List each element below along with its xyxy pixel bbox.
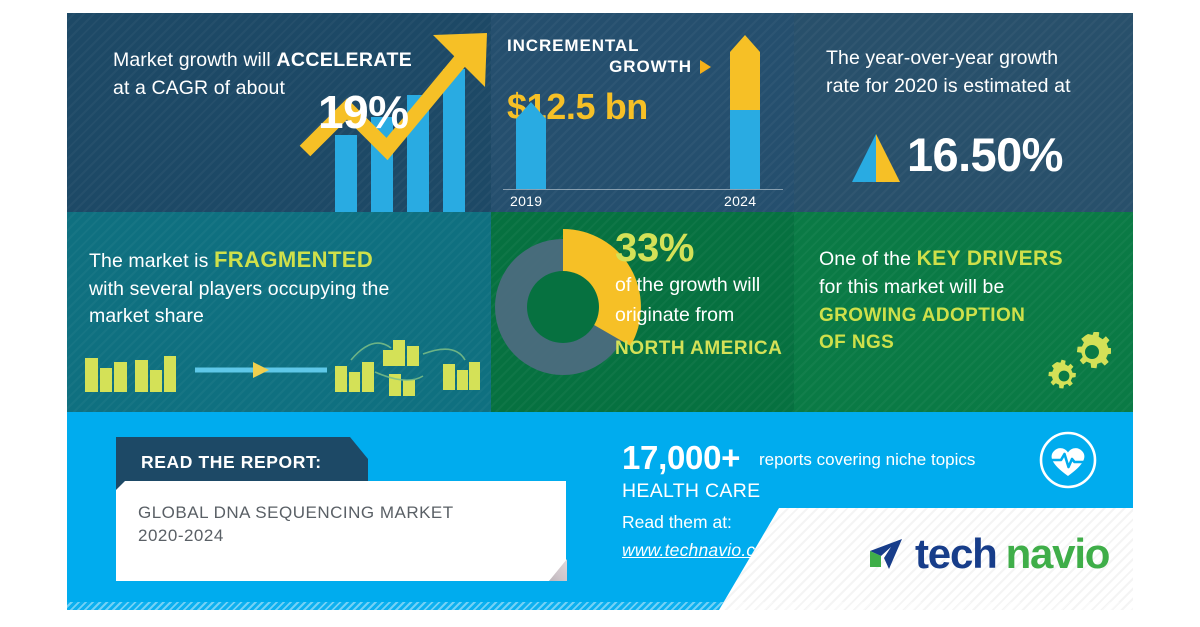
cagr-value: 19% bbox=[318, 85, 409, 139]
cagr-line1-pre: Market growth will bbox=[113, 49, 276, 71]
row-top: Market growth will ACCELERATE at a CAGR … bbox=[67, 13, 1133, 212]
axis-label-end: 2024 bbox=[724, 193, 756, 209]
panel-footer: READ THE REPORT: GLOBAL DNA SEQUENCING M… bbox=[67, 412, 1133, 610]
incremental-title: INCREMENTAL GROWTH bbox=[507, 35, 717, 78]
region-value: 33% bbox=[615, 226, 694, 271]
arrow-head-icon bbox=[253, 362, 269, 378]
panel-key-drivers: One of the KEY DRIVERS for this market w… bbox=[794, 212, 1133, 412]
stripe-texture bbox=[794, 13, 1133, 212]
fragmented-line2: with several players occupying the bbox=[89, 278, 389, 300]
logo-text-tech: tech bbox=[915, 530, 997, 578]
incremental-title-line1: INCREMENTAL bbox=[507, 36, 639, 55]
infographic-canvas: Market growth will ACCELERATE at a CAGR … bbox=[0, 0, 1200, 627]
yoy-value: 16.50% bbox=[907, 127, 1063, 182]
row-middle: The market is FRAGMENTED with several pl… bbox=[67, 212, 1133, 412]
axis-line bbox=[503, 189, 783, 190]
yoy-statement: The year-over-year growth rate for 2020 … bbox=[826, 45, 1116, 100]
fragmented-line3: market share bbox=[89, 305, 204, 327]
panel-fragmented: The market is FRAGMENTED with several pl… bbox=[67, 212, 491, 412]
technavio-arrow-icon bbox=[864, 533, 906, 575]
play-triangle-icon bbox=[700, 60, 711, 74]
reports-caption: reports covering niche topics bbox=[759, 450, 975, 470]
drivers-line1-pre: One of the bbox=[819, 248, 917, 270]
drivers-line3: GROWING ADOPTION bbox=[819, 305, 1025, 326]
row-footer: READ THE REPORT: GLOBAL DNA SEQUENCING M… bbox=[67, 412, 1133, 610]
market-fragmentation-diagram bbox=[83, 338, 483, 400]
building-cluster-right bbox=[335, 340, 480, 396]
panel-region-share: 33% of the growth will originate from NO… bbox=[491, 212, 794, 412]
bar-2024 bbox=[730, 35, 760, 189]
panel-incremental-growth: INCREMENTAL GROWTH $12.5 bn 2019 2024 bbox=[491, 13, 794, 212]
drivers-line2: for this market will be bbox=[819, 276, 1004, 298]
region-name: NORTH AMERICA bbox=[615, 338, 782, 360]
infographic-frame: Market growth will ACCELERATE at a CAGR … bbox=[67, 13, 1133, 610]
logo-text-navio: navio bbox=[1006, 530, 1110, 578]
yoy-line1: The year-over-year growth bbox=[826, 47, 1058, 69]
building-cluster-left bbox=[85, 356, 176, 392]
growth-triangle-icon bbox=[850, 132, 902, 184]
panel-yoy-growth: The year-over-year growth rate for 2020 … bbox=[794, 13, 1133, 212]
technavio-logo-plate: technavio bbox=[719, 508, 1133, 610]
fragmented-line1-pre: The market is bbox=[89, 250, 214, 272]
report-category: HEALTH CARE bbox=[622, 480, 760, 503]
fragmented-statement: The market is FRAGMENTED with several pl… bbox=[89, 244, 489, 331]
health-care-heart-icon bbox=[1037, 429, 1099, 491]
drivers-highlight: KEY DRIVERS bbox=[917, 247, 1063, 270]
axis-label-start: 2019 bbox=[510, 193, 542, 209]
drivers-line4: OF NGS bbox=[819, 332, 894, 353]
read-the-report-label: READ THE REPORT: bbox=[141, 452, 322, 473]
panel-cagr: Market growth will ACCELERATE at a CAGR … bbox=[67, 13, 491, 212]
cagr-line2: at a CAGR of about bbox=[113, 77, 285, 99]
fragmented-highlight: FRAGMENTED bbox=[214, 247, 373, 272]
bar-2019 bbox=[516, 102, 546, 189]
footer-stripe-band bbox=[67, 602, 1133, 610]
technavio-logo[interactable]: technavio bbox=[864, 530, 1109, 578]
incremental-title-line2: GROWTH bbox=[609, 57, 692, 76]
report-card[interactable]: GLOBAL DNA SEQUENCING MARKET 2020-2024 bbox=[116, 481, 566, 581]
read-them-at-label: Read them at: bbox=[622, 512, 732, 533]
reports-count: 17,000+ bbox=[622, 439, 740, 477]
gears-icon bbox=[1041, 332, 1111, 394]
report-title-line1: GLOBAL DNA SEQUENCING MARKET bbox=[138, 503, 454, 523]
region-line1: of the growth will bbox=[615, 274, 760, 297]
yoy-line2: rate for 2020 is estimated at bbox=[826, 75, 1071, 97]
report-title-line2: 2020-2024 bbox=[138, 526, 224, 546]
region-line2: originate from bbox=[615, 304, 734, 327]
